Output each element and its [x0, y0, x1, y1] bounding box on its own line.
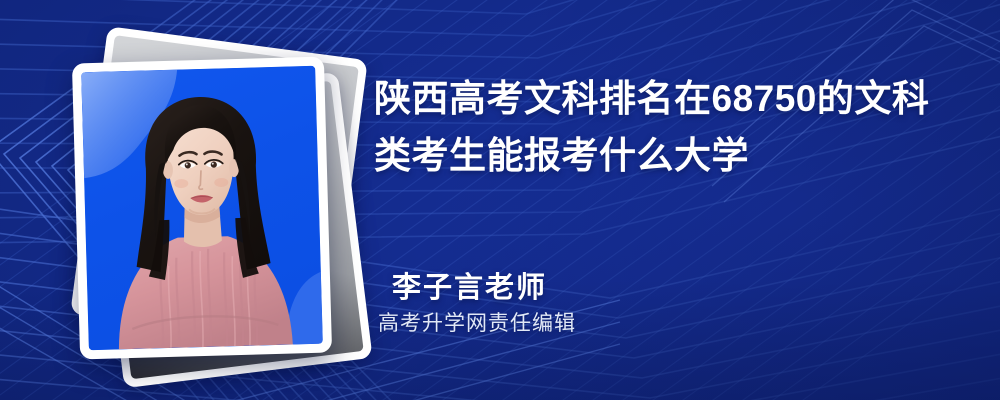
headline-line-1: 陕西高考文科排名在68750的文科 — [374, 70, 974, 127]
author-role: 高考升学网责任编辑 — [374, 308, 794, 340]
author-portrait-illustration — [81, 66, 323, 350]
author-portrait-photo — [81, 66, 323, 350]
cover-banner: 陕西高考文科排名在68750的文科 类考生能报考什么大学 李子言老师 高考升学网… — [0, 0, 1000, 400]
byline: 李子言老师 高考升学网责任编辑 — [374, 268, 794, 340]
portrait-card-stack — [48, 34, 368, 374]
author-name: 李子言老师 — [374, 268, 794, 308]
portrait-card-front — [72, 57, 332, 360]
headline: 陕西高考文科排名在68750的文科 类考生能报考什么大学 — [374, 70, 974, 184]
headline-line-2: 类考生能报考什么大学 — [374, 127, 974, 184]
